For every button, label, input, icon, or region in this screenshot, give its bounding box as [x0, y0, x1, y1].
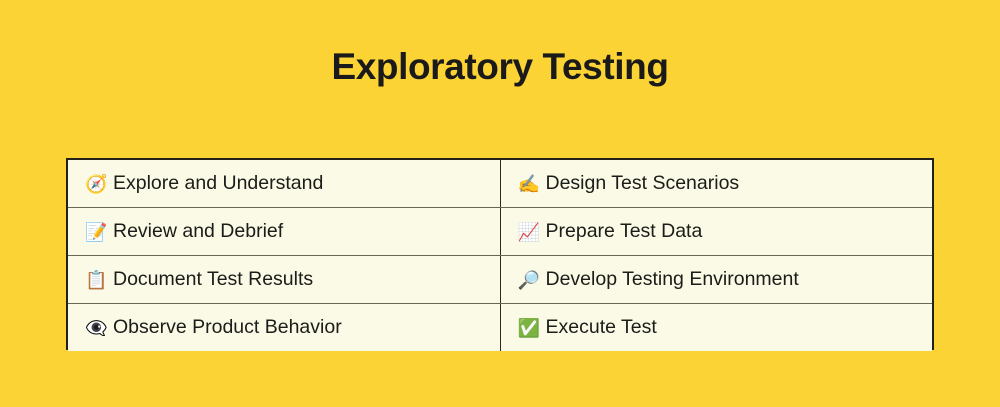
table-cell-develop-testing-environment[interactable]: 🔎 Develop Testing Environment: [500, 256, 932, 304]
table-row: 📝 Review and Debrief 📈 Prepare Test Data: [68, 208, 932, 256]
table-cell-prepare-test-data[interactable]: 📈 Prepare Test Data: [500, 208, 932, 256]
table-row: 📋 Document Test Results 🔎 Develop Testin…: [68, 256, 932, 304]
activity-label: Explore and Understand: [113, 172, 323, 195]
table-row: 👁️‍🗨️ Observe Product Behavior ✅ Execute…: [68, 304, 932, 352]
exploratory-testing-infographic: Exploratory Testing 🧭 Explore and Unders…: [0, 0, 1000, 407]
magnifying-glass-icon: 🔎: [518, 271, 540, 289]
activities-grid: 🧭 Explore and Understand ✍️ Design Test …: [68, 160, 932, 351]
table-cell-execute-test[interactable]: ✅ Execute Test: [500, 304, 932, 352]
activity-label: Observe Product Behavior: [113, 316, 342, 339]
page-title: Exploratory Testing: [0, 44, 1000, 90]
eye-in-speech-bubble-icon: 👁️‍🗨️: [85, 319, 107, 337]
activity-label: Execute Test: [546, 316, 657, 339]
writing-hand-icon: ✍️: [518, 175, 540, 193]
clipboard-icon: 📋: [85, 271, 107, 289]
memo-icon: 📝: [85, 223, 107, 241]
table-row: 🧭 Explore and Understand ✍️ Design Test …: [68, 160, 932, 208]
activity-label: Document Test Results: [113, 268, 313, 291]
check-mark-button-icon: ✅: [518, 319, 540, 337]
table-cell-design-test-scenarios[interactable]: ✍️ Design Test Scenarios: [500, 160, 932, 208]
compass-icon: 🧭: [85, 175, 107, 193]
table-cell-review-and-debrief[interactable]: 📝 Review and Debrief: [68, 208, 500, 256]
activities-table: 🧭 Explore and Understand ✍️ Design Test …: [66, 158, 934, 350]
activity-label: Design Test Scenarios: [546, 172, 740, 195]
activity-label: Develop Testing Environment: [546, 268, 799, 291]
table-cell-explore-and-understand[interactable]: 🧭 Explore and Understand: [68, 160, 500, 208]
activity-label: Review and Debrief: [113, 220, 283, 243]
chart-increasing-icon: 📈: [518, 223, 540, 241]
activity-label: Prepare Test Data: [546, 220, 703, 243]
table-cell-document-test-results[interactable]: 📋 Document Test Results: [68, 256, 500, 304]
table-cell-observe-product-behavior[interactable]: 👁️‍🗨️ Observe Product Behavior: [68, 304, 500, 352]
